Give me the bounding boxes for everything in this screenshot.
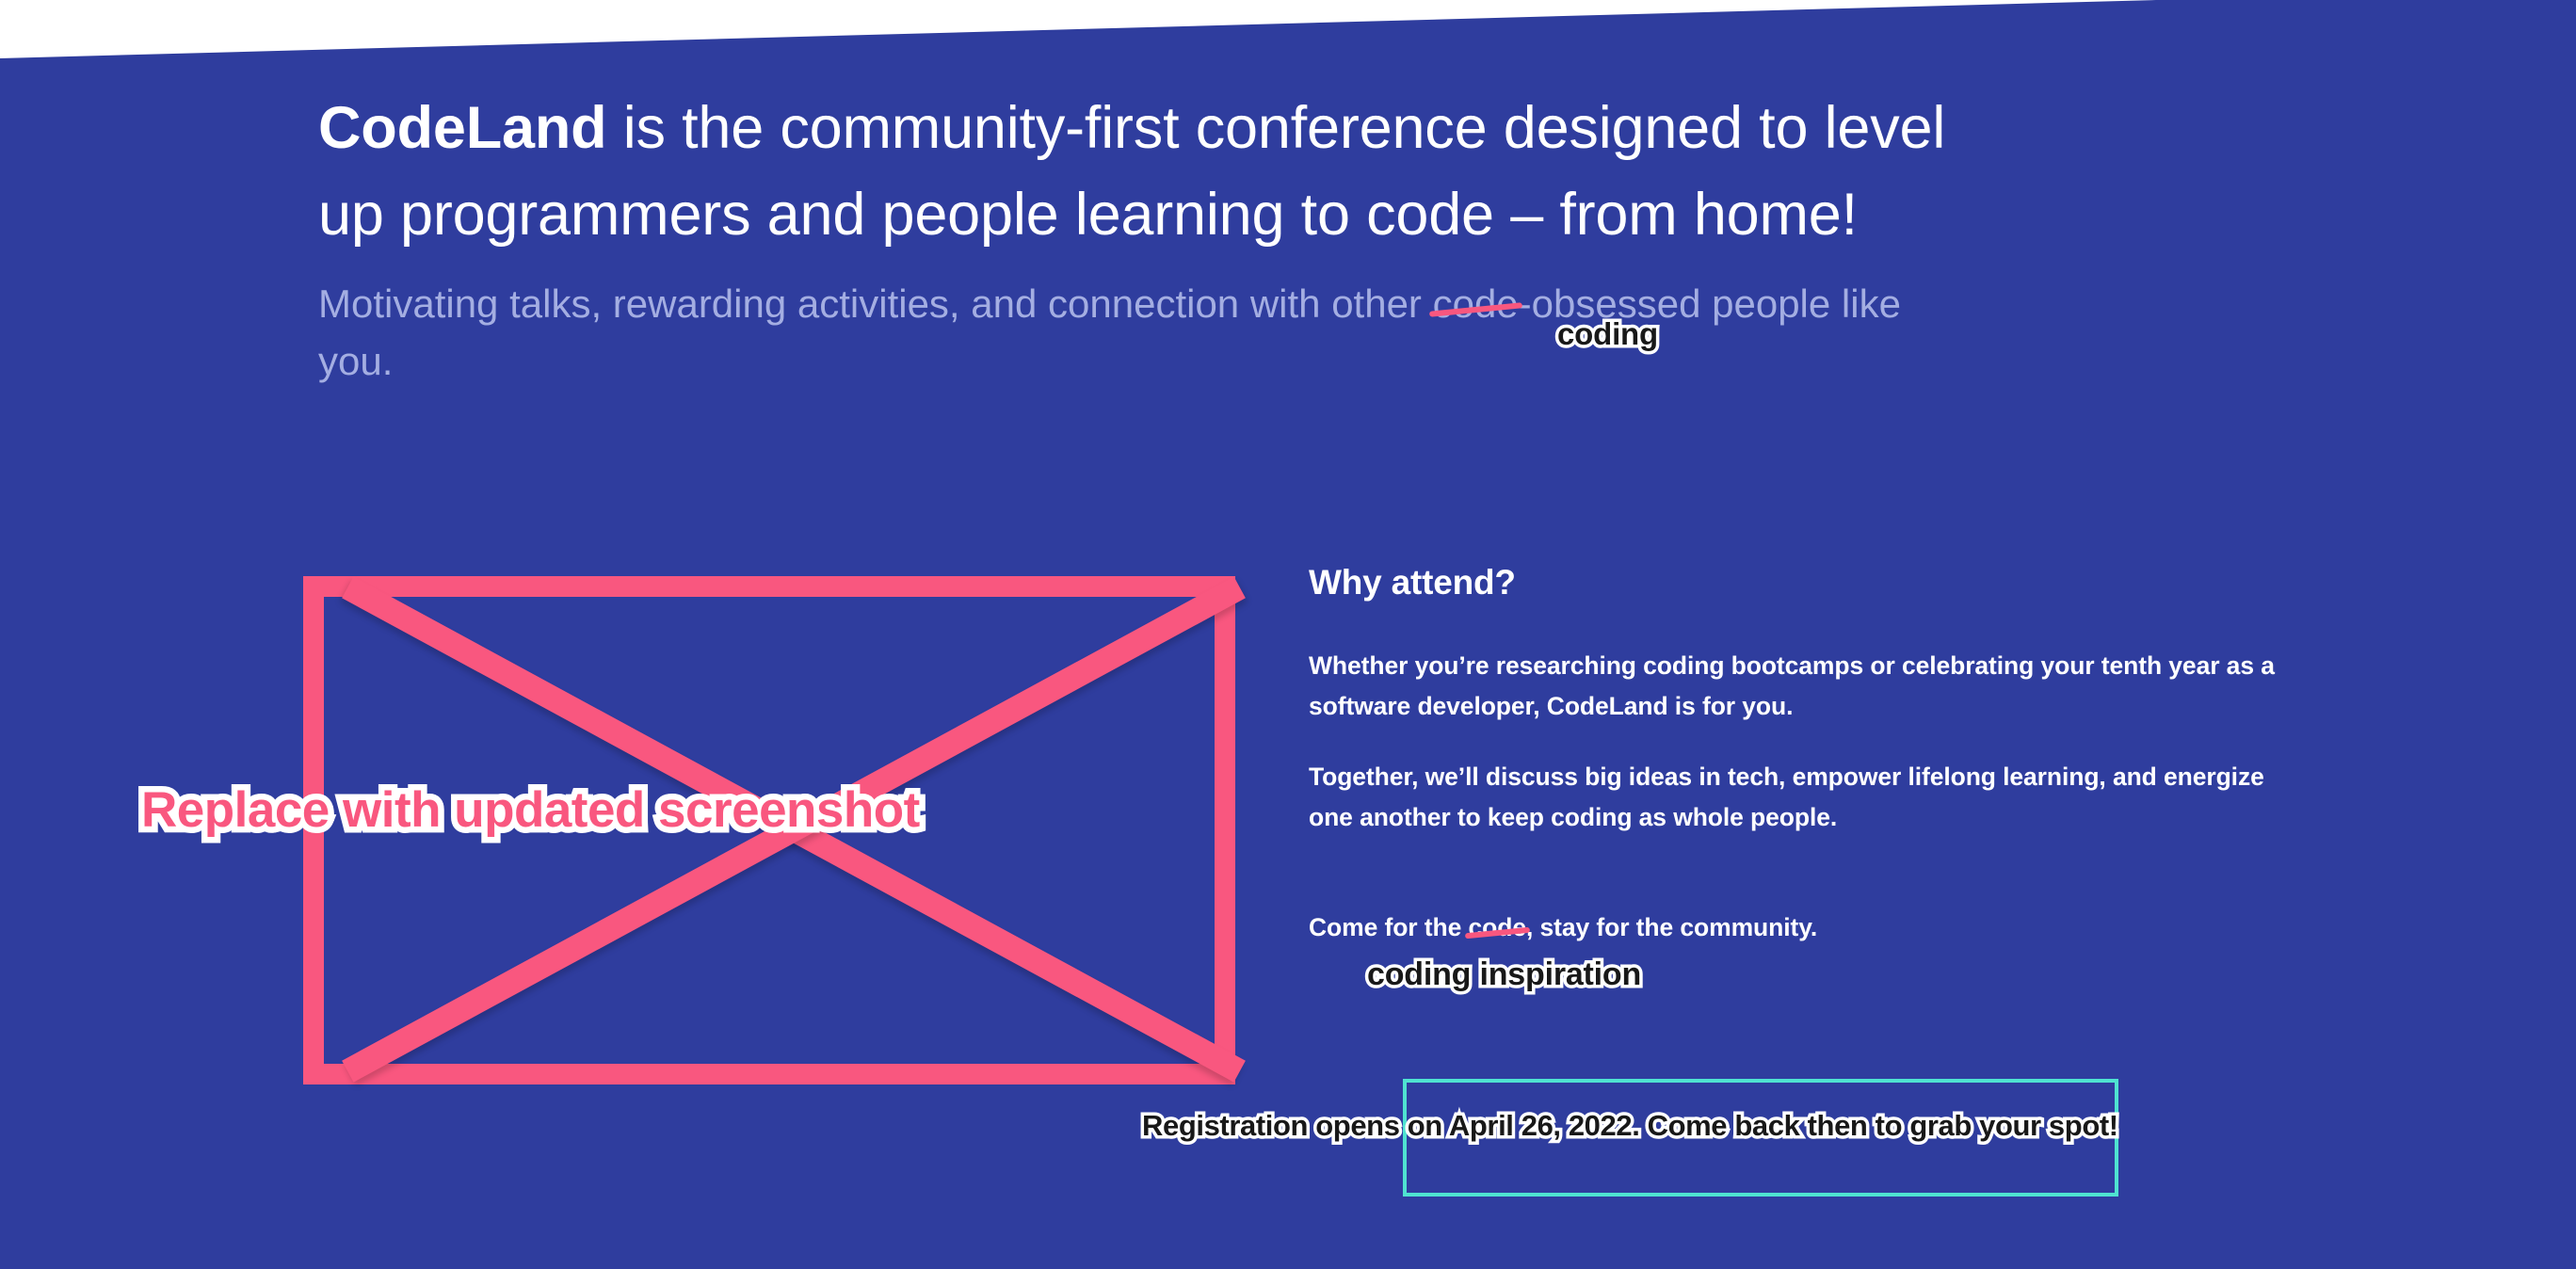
brand-name: CodeLand bbox=[318, 95, 606, 161]
tagline-before: Come for the bbox=[1309, 913, 1469, 941]
hero-subtitle: Motivating talks, rewarding activities, … bbox=[318, 275, 1975, 390]
coding-correction-callout: coding bbox=[1557, 316, 1658, 352]
top-white-wedge bbox=[0, 0, 2576, 66]
hero-section: CodeLand is the community-first conferen… bbox=[318, 85, 1975, 390]
subhead-before: Motivating talks, rewarding activities, … bbox=[318, 281, 1433, 326]
why-attend-tagline: Come for the code, stay for the communit… bbox=[1309, 908, 2307, 948]
why-attend-heading: Why attend? bbox=[1309, 563, 2307, 602]
page-title: CodeLand is the community-first conferen… bbox=[318, 85, 1975, 258]
page-root: CodeLand is the community-first conferen… bbox=[0, 0, 2576, 1269]
coding-inspiration-callout: coding inspiration bbox=[1367, 956, 1641, 993]
tagline-struck-word: code bbox=[1469, 908, 1526, 948]
why-attend-section: Why attend? Whether you’re researching c… bbox=[1309, 563, 2307, 978]
tagline-after: , stay for the community. bbox=[1526, 913, 1817, 941]
replace-screenshot-annotation: Replace with updated screenshot bbox=[141, 781, 920, 839]
subhead-struck-word: code bbox=[1433, 275, 1519, 332]
why-attend-paragraph-2: Together, we’ll discuss big ideas in tec… bbox=[1309, 757, 2307, 838]
registration-note-annotation: Registration opens on April 26, 2022. Co… bbox=[1142, 1109, 2118, 1143]
why-attend-paragraph-1: Whether you’re researching coding bootca… bbox=[1309, 646, 2307, 727]
